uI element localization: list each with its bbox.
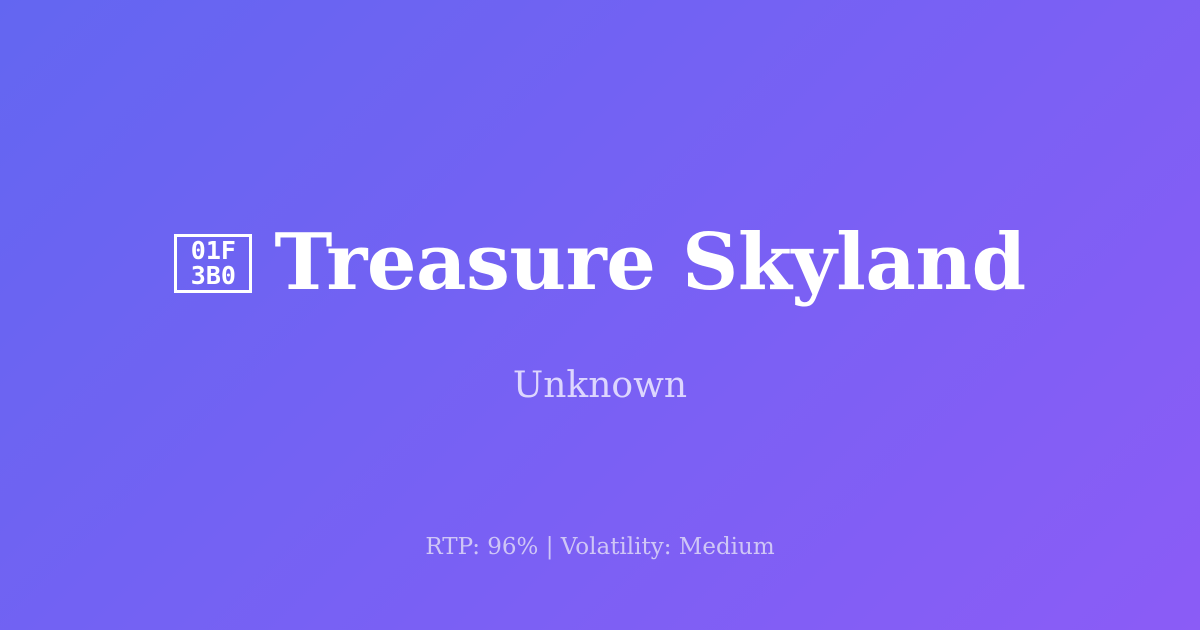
- og-card: 01F 3B0 Treasure Skyland Unknown RTP: 96…: [0, 0, 1200, 630]
- title-row: 01F 3B0 Treasure Skyland: [0, 222, 1200, 304]
- game-stats: RTP: 96% | Volatility: Medium: [0, 534, 1200, 562]
- provider-name: Unknown: [513, 304, 687, 407]
- tofu-codepoint-line-2: 3B0: [191, 263, 236, 288]
- slot-machine-emoji-tofu-icon: 01F 3B0: [174, 234, 252, 293]
- tofu-codepoint-line-1: 01F: [191, 238, 236, 263]
- game-title: Treasure Skyland: [274, 222, 1025, 304]
